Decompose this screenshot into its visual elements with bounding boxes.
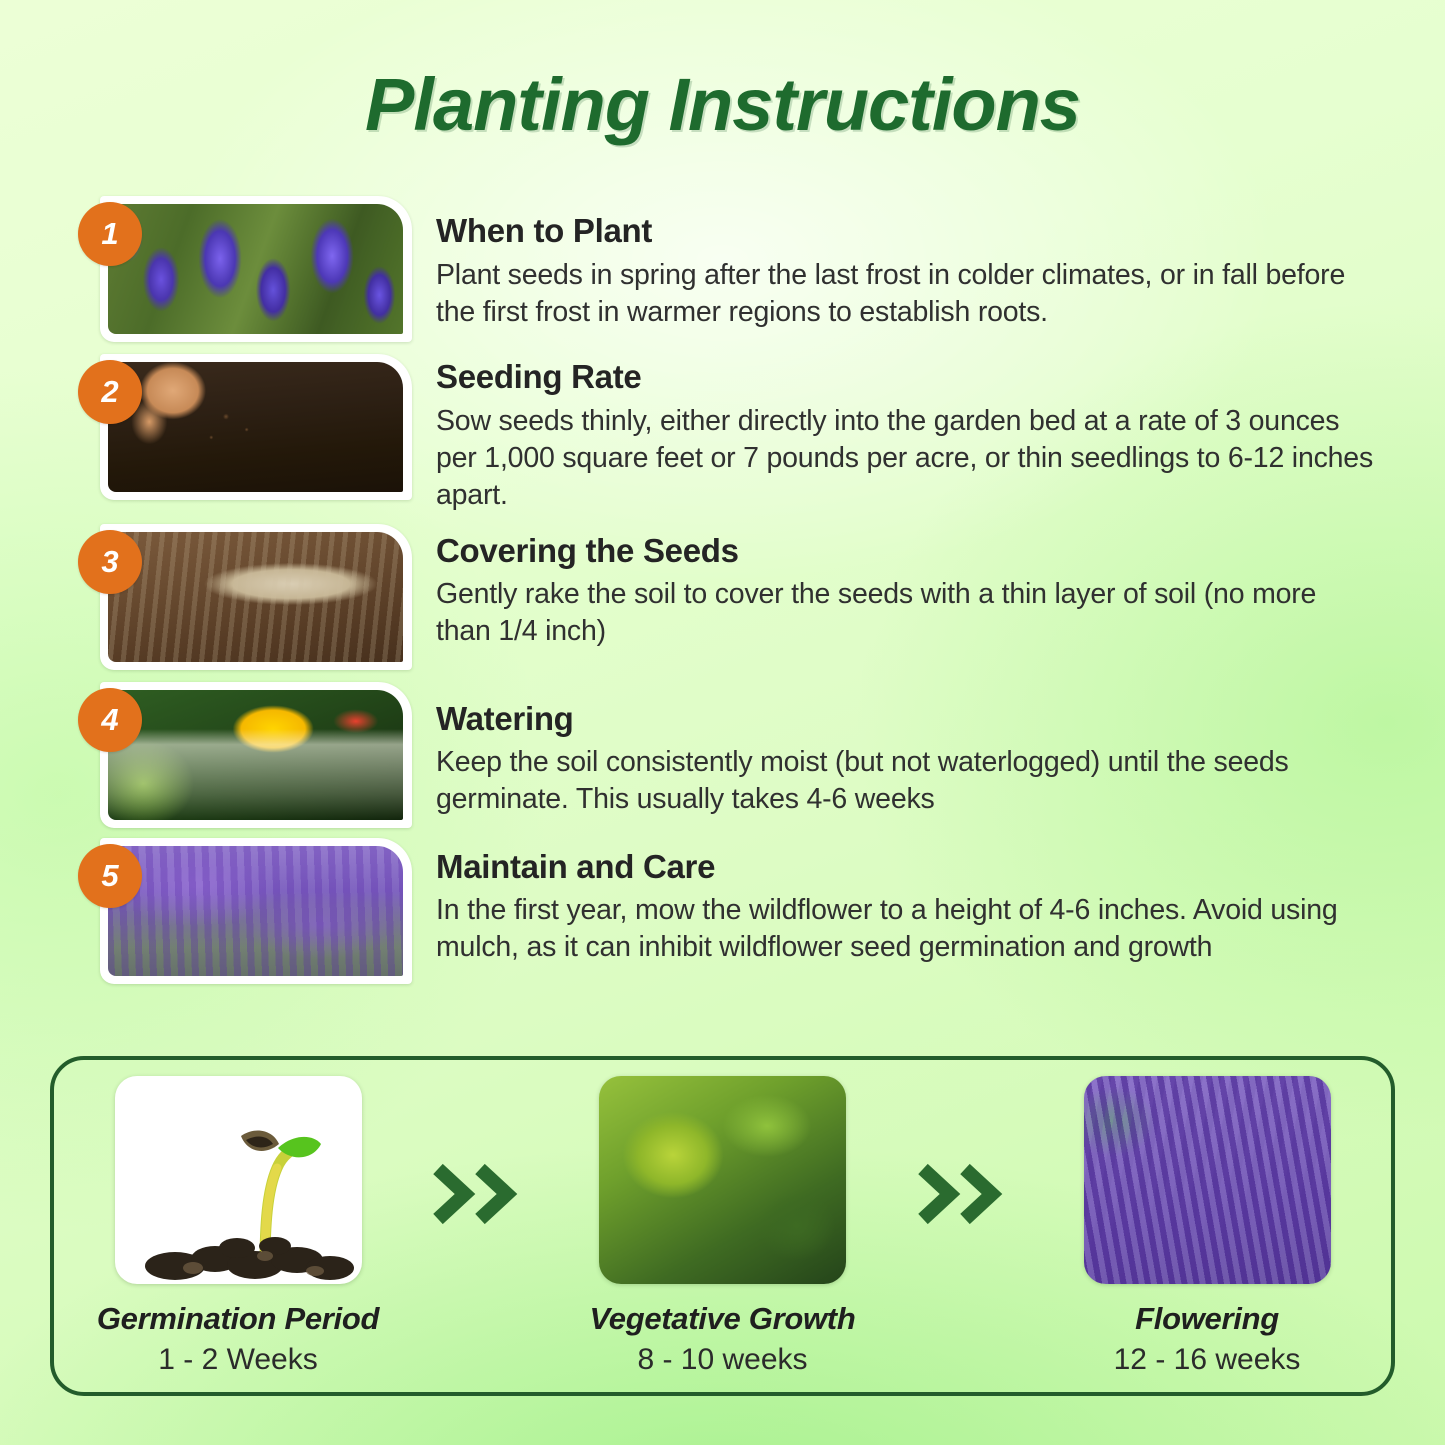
step-heading: Watering (436, 702, 1378, 737)
step-heading: When to Plant (436, 214, 1378, 249)
timeline-phase: Vegetative Growth 8 - 10 weeks (573, 1076, 873, 1375)
step-text: Maintain and Care In the first year, mow… (416, 838, 1378, 967)
step-image-card (100, 354, 412, 500)
growth-timeline-panel: Germination Period 1 - 2 Weeks Vegetativ… (50, 1056, 1395, 1396)
step-text: Covering the Seeds Gently rake the soil … (416, 524, 1378, 651)
step-thumbnail-wrap: 5 (78, 838, 416, 984)
purple-ajuga-flowers-photo (108, 204, 403, 334)
yellow-watering-can-sprinkling-photo (108, 690, 403, 820)
list-item: 1 When to Plant Plant seeds in spring af… (78, 196, 1378, 342)
step-image-card (100, 682, 412, 828)
step-image-card (100, 524, 412, 670)
step-thumbnail-wrap: 4 (78, 682, 416, 828)
step-body: Keep the soil consistently moist (but no… (436, 744, 1378, 818)
step-image-card (100, 196, 412, 342)
step-text: Watering Keep the soil consistently mois… (416, 682, 1378, 819)
step-body: Gently rake the soil to cover the seeds … (436, 576, 1378, 650)
step-heading: Maintain and Care (436, 850, 1378, 885)
step-heading: Covering the Seeds (436, 534, 1378, 569)
list-item: 4 Watering Keep the soil consistently mo… (78, 682, 1378, 828)
phase-duration: 1 - 2 Weeks (158, 1343, 318, 1376)
timeline-phase: Germination Period 1 - 2 Weeks (88, 1076, 388, 1375)
step-body: Sow seeds thinly, either directly into t… (436, 403, 1378, 514)
phase-label: Vegetative Growth (590, 1302, 856, 1336)
green-leafy-plant-closeup-photo (599, 1076, 846, 1284)
page-title: Planting Instructions (0, 62, 1445, 147)
timeline-phase: Flowering 12 - 16 weeks (1057, 1076, 1357, 1375)
step-image-card (100, 838, 412, 984)
step-thumbnail-wrap: 3 (78, 524, 416, 670)
list-item: 2 Seeding Rate Sow seeds thinly, either … (78, 354, 1378, 514)
step-body: In the first year, mow the wildflower to… (436, 892, 1378, 966)
steps-list: 1 When to Plant Plant seeds in spring af… (78, 196, 1378, 992)
step-heading: Seeding Rate (436, 360, 1378, 395)
rake-on-brown-soil-photo (108, 532, 403, 662)
phase-duration: 8 - 10 weeks (637, 1343, 807, 1376)
phase-duration: 12 - 16 weeks (1114, 1343, 1301, 1376)
sprouting-seed-on-soil-photo (115, 1076, 362, 1284)
double-chevron-right-icon (425, 1163, 535, 1225)
step-number-badge: 5 (78, 844, 142, 908)
step-number-badge: 4 (78, 688, 142, 752)
purple-wildflower-field-photo (108, 846, 403, 976)
infographic-page: Planting Instructions 1 When to Plant Pl… (0, 0, 1445, 1445)
hand-sowing-seeds-into-soil-photo (108, 362, 403, 492)
step-number-badge: 3 (78, 530, 142, 594)
phase-label: Flowering (1135, 1302, 1279, 1336)
step-number-badge: 2 (78, 360, 142, 424)
purple-lavender-blooms-photo (1084, 1076, 1331, 1284)
step-body: Plant seeds in spring after the last fro… (436, 257, 1378, 331)
step-thumbnail-wrap: 2 (78, 354, 416, 500)
step-text: When to Plant Plant seeds in spring afte… (416, 196, 1378, 331)
list-item: 5 Maintain and Care In the first year, m… (78, 838, 1378, 984)
step-thumbnail-wrap: 1 (78, 196, 416, 342)
step-text: Seeding Rate Sow seeds thinly, either di… (416, 354, 1378, 514)
step-number-badge: 1 (78, 202, 142, 266)
list-item: 3 Covering the Seeds Gently rake the soi… (78, 524, 1378, 670)
phase-label: Germination Period (97, 1302, 379, 1336)
double-chevron-right-icon (910, 1163, 1020, 1225)
